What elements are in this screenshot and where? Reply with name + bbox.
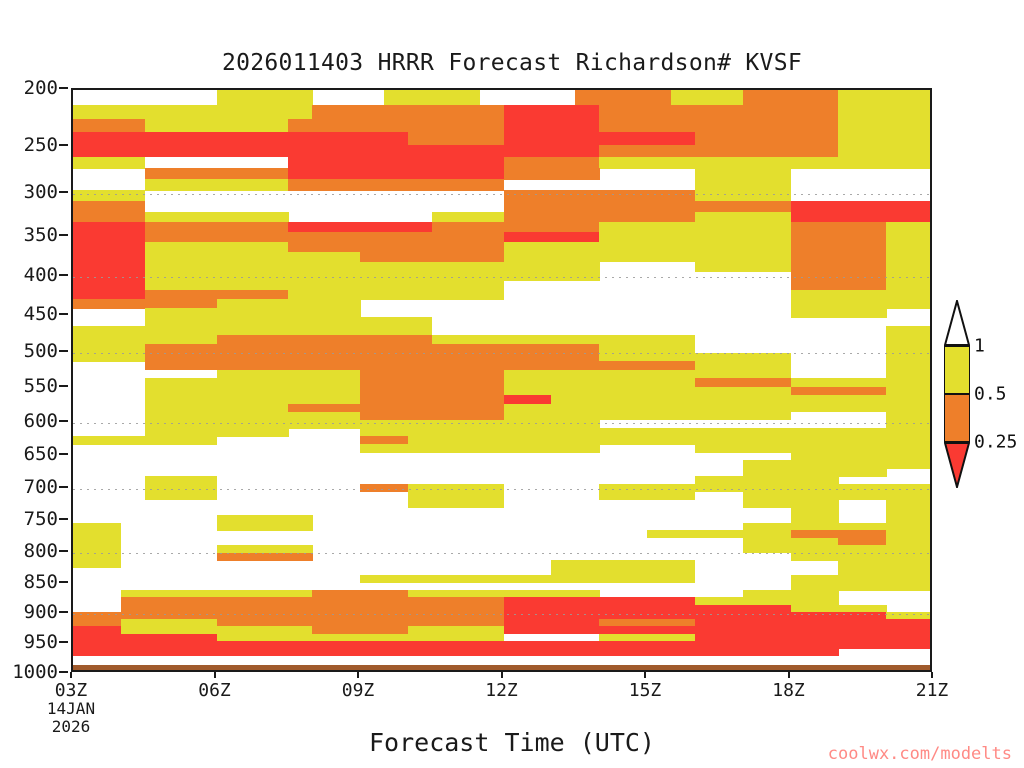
heatmap-cell — [360, 484, 408, 492]
x-tick-mark — [931, 672, 933, 678]
y-tick-mark — [59, 87, 68, 89]
heatmap-cell — [575, 90, 671, 106]
heatmap-cell — [288, 222, 432, 233]
heatmap-cell — [599, 222, 791, 233]
y-tick-label: 250 — [24, 134, 58, 156]
heatmap-cell — [838, 145, 932, 158]
heatmap-cell — [504, 105, 600, 120]
colorbar-tick-label: 0.5 — [974, 384, 1007, 405]
y-tick-label: 500 — [24, 340, 58, 362]
heatmap-cell — [73, 105, 313, 120]
heatmap-cell — [743, 90, 839, 106]
heatmap-cell — [432, 212, 504, 223]
y-axis: 2002503003504004505005506006507007508008… — [0, 88, 68, 672]
y-tick-label: 1000 — [12, 661, 58, 683]
x-tick-mark — [501, 672, 503, 678]
heatmap-cell — [838, 105, 932, 120]
y-tick-label: 450 — [24, 303, 58, 325]
heatmap-cell — [791, 212, 933, 223]
heatmap-cell — [73, 212, 145, 223]
colorbar-tick-label: 0.25 — [974, 432, 1017, 453]
heatmap-cell — [504, 232, 600, 243]
heatmap-cell — [504, 119, 600, 133]
colorbar: 10.50.25 — [944, 300, 970, 460]
heatmap-cell — [695, 212, 791, 223]
colorbar-segment-orange — [944, 394, 970, 442]
x-tick-label: 12Z — [485, 680, 518, 701]
heatmap-cell — [73, 119, 145, 133]
y-tick-label: 600 — [24, 410, 58, 432]
y-tick-label: 550 — [24, 375, 58, 397]
y-tick-mark — [59, 274, 68, 276]
heatmap-cell — [288, 157, 504, 169]
y-tick-mark — [59, 581, 68, 583]
y-tick-label: 700 — [24, 476, 58, 498]
colorbar-tick-mark — [944, 441, 970, 443]
y-tick-mark — [59, 453, 68, 455]
heatmap-cell — [73, 232, 145, 243]
colorbar-cap-top — [944, 300, 970, 346]
y-tick-mark — [59, 550, 68, 552]
y-tick-mark — [59, 671, 68, 673]
heatmap-cells — [73, 90, 930, 670]
heatmap-cell — [145, 179, 289, 191]
heatmap-cell — [838, 90, 932, 106]
colorbar-segment-yellow — [944, 346, 970, 394]
y-tick-mark — [59, 350, 68, 352]
y-tick-label: 750 — [24, 508, 58, 530]
heatmap-cell — [695, 132, 839, 145]
x-tick-label: 06Z — [198, 680, 231, 701]
heatmap-cell — [73, 353, 145, 362]
x-tick-mark — [214, 672, 216, 678]
heatmap-cell — [217, 523, 313, 531]
y-tick-label: 300 — [24, 181, 58, 203]
y-tick-label: 350 — [24, 224, 58, 246]
heatmap-cell — [360, 444, 600, 453]
heatmap-cell — [504, 132, 696, 145]
heatmap-cell — [695, 179, 791, 191]
colorbar-cap-bottom — [944, 442, 970, 488]
heatmap-cell — [791, 222, 887, 233]
x-tick-mark — [70, 672, 72, 678]
y-tick-mark — [59, 385, 68, 387]
heatmap-cell — [838, 119, 932, 133]
heatmap-cell — [671, 90, 743, 106]
heatmap-cell — [838, 132, 932, 145]
y-tick-mark — [59, 518, 68, 520]
y-tick-label: 950 — [24, 631, 58, 653]
y-tick-mark — [59, 420, 68, 422]
heatmap-cell — [217, 90, 313, 106]
heatmap-cell — [695, 168, 791, 180]
heatmap-cell — [145, 119, 289, 133]
y-tick-label: 900 — [24, 601, 58, 623]
plot-frame — [71, 88, 932, 672]
heatmap-cell — [504, 212, 696, 223]
y-tick-label: 650 — [24, 443, 58, 465]
heatmap-cell — [695, 262, 791, 272]
heatmap-cell — [791, 232, 887, 243]
heatmap-cell — [599, 232, 791, 243]
heatmap-cell — [599, 105, 839, 120]
y-tick-label: 200 — [24, 77, 58, 99]
date-stamp-line: 14JAN — [11, 700, 131, 718]
heatmap-cell — [886, 222, 932, 233]
heatmap-cell — [145, 222, 289, 233]
heatmap-cell — [73, 201, 145, 212]
heatmap-cell — [360, 575, 695, 583]
heatmap-cell — [384, 90, 480, 106]
y-tick-mark — [59, 144, 68, 146]
heatmap-cell — [73, 648, 839, 656]
y-tick-mark — [59, 313, 68, 315]
heatmap-cell — [145, 232, 504, 243]
heatmap-cell — [695, 190, 791, 201]
heatmap-cell — [504, 168, 600, 180]
x-tick-label: 21Z — [916, 680, 949, 701]
y-tick-mark — [59, 641, 68, 643]
chart-title: 2026011403 HRRR Forecast Richardson# KVS… — [0, 50, 1024, 76]
heatmap-cell — [73, 132, 408, 145]
chart-canvas: 2026011403 HRRR Forecast Richardson# KVS… — [0, 0, 1024, 768]
heatmap-cell — [288, 179, 504, 191]
colorbar-tick-mark — [944, 345, 970, 347]
credit-link[interactable]: coolwx.com/modelts — [828, 744, 1012, 764]
heatmap-cell — [145, 492, 217, 500]
y-tick-mark — [59, 611, 68, 613]
heatmap-cell — [408, 132, 504, 145]
y-tick-label: 800 — [24, 540, 58, 562]
heatmap-cell — [73, 145, 600, 158]
x-tick-label: 18Z — [772, 680, 805, 701]
heatmap-cell — [886, 232, 932, 243]
heatmap-cell — [145, 168, 289, 180]
x-tick-label: 15Z — [629, 680, 662, 701]
heatmap-cell — [73, 222, 145, 233]
x-tick-mark — [357, 672, 359, 678]
heatmap-cell — [599, 145, 839, 158]
terrain-band — [73, 665, 930, 672]
x-tick-label: 03Z — [55, 680, 88, 701]
colorbar-tick-label: 1 — [974, 336, 985, 357]
y-tick-mark — [59, 191, 68, 193]
heatmap-cell — [408, 500, 504, 508]
heatmap-cell — [145, 212, 289, 223]
heatmap-cell — [504, 201, 792, 212]
x-tick-label: 09Z — [342, 680, 375, 701]
heatmap-cell — [599, 492, 695, 500]
heatmap-cell — [504, 157, 600, 169]
y-tick-label: 850 — [24, 571, 58, 593]
y-tick-mark — [59, 234, 68, 236]
heatmap-cell — [73, 157, 145, 169]
heatmap-cell — [504, 190, 696, 201]
heatmap-cell — [217, 553, 313, 561]
heatmap-cell — [288, 119, 504, 133]
heatmap-cell — [73, 436, 217, 445]
y-tick-mark — [59, 486, 68, 488]
colorbar-tick-mark — [944, 393, 970, 395]
heatmap-cell — [791, 308, 887, 318]
x-tick-mark — [788, 672, 790, 678]
heatmap-cell — [312, 105, 504, 120]
x-axis: 03Z06Z09Z12Z15Z18Z21Z — [71, 678, 932, 708]
heatmap-cell — [288, 168, 504, 180]
y-tick-label: 400 — [24, 264, 58, 286]
heatmap-cell — [73, 560, 121, 568]
heatmap-cell — [599, 157, 932, 169]
x-tick-mark — [644, 672, 646, 678]
heatmap-cell — [73, 190, 145, 201]
heatmap-cell — [599, 119, 839, 133]
plot-area — [71, 88, 932, 672]
heatmap-cell — [791, 201, 933, 212]
heatmap-cell — [432, 222, 600, 233]
